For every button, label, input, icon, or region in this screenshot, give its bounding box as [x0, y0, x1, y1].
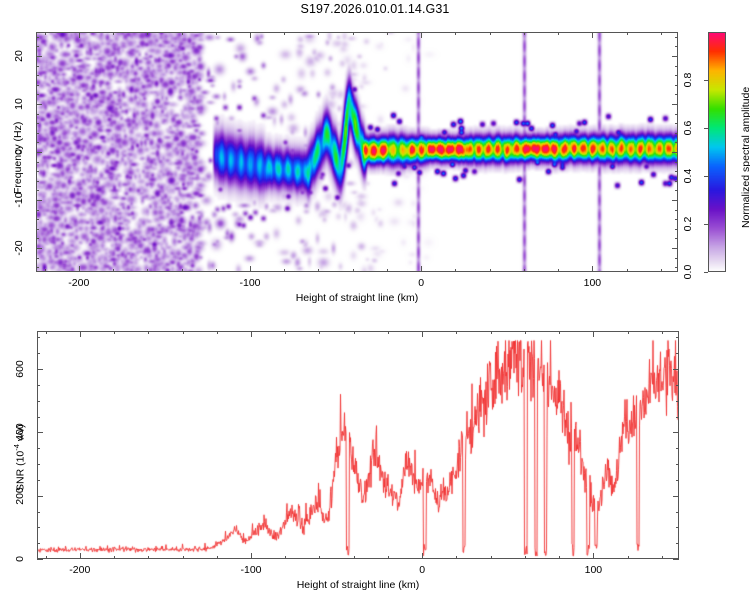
snr-ytick-minor [37, 464, 40, 465]
snr-xtick-minor-top [559, 331, 560, 334]
snr-ytick-minor-right [676, 448, 679, 449]
snr-ytick-right [673, 496, 679, 497]
snr-xtick-top [80, 331, 81, 337]
colorbar-tick [704, 272, 708, 273]
spectrogram-xtick-minor [524, 269, 525, 272]
colorbar-ticklabel: 0.8 [681, 66, 695, 94]
spectrogram-xtick [592, 266, 593, 272]
spectrogram-ytick-minor-right [675, 37, 678, 38]
spectrogram-yticklabel: 20 [12, 43, 26, 69]
spectrogram-xtick-minor-top [455, 32, 456, 35]
spectrogram-xtick-minor [147, 269, 148, 272]
colorbar-ticklabel: 0.4 [681, 162, 695, 190]
spectrogram-ytick-minor-right [675, 75, 678, 76]
snr-xtick-minor-top [491, 331, 492, 334]
spectrogram-xtick-minor-top [45, 32, 46, 35]
snr-xtick-minor-top [217, 331, 218, 334]
snr-xticklabel: -200 [62, 564, 98, 576]
spectrogram-xtick-minor-top [182, 32, 183, 35]
spectrogram-ytick-minor-right [675, 267, 678, 268]
snr-ytick-minor-right [676, 337, 679, 338]
snr-ytick-minor-right [676, 401, 679, 402]
spectrogram-ytick-minor-right [675, 210, 678, 211]
colorbar-tick [704, 80, 708, 81]
spectrogram-ytick-right [672, 248, 678, 249]
spectrogram-ytick [36, 200, 42, 201]
snr-xticklabel: -100 [233, 564, 269, 576]
spectrogram-ytick-minor-right [675, 229, 678, 230]
snr-xaxis-label: Height of straight line (km) [37, 579, 679, 591]
spectrogram-ytick-minor [36, 171, 39, 172]
spectrogram-ytick-minor-right [675, 66, 678, 67]
colorbar-ticklabel: 0.0 [681, 258, 695, 286]
spectrogram-xtick-minor [455, 269, 456, 272]
spectrogram-xtick-top [79, 32, 80, 38]
snr-xtick-minor [491, 556, 492, 559]
spectrogram-ytick-right [672, 200, 678, 201]
snr-xtick-top [422, 331, 423, 337]
spectrogram-ytick-minor-right [675, 123, 678, 124]
snr-xtick-minor-top [148, 331, 149, 334]
snr-xtick-top [593, 331, 594, 337]
spectrogram-ytick-minor-right [675, 46, 678, 47]
snr-ytick-minor-right [676, 480, 679, 481]
spectrogram-panel [36, 32, 678, 272]
snr-ytick-minor-right [676, 385, 679, 386]
snr-frame [37, 331, 679, 559]
spectrogram-ytick-minor-right [675, 171, 678, 172]
spectrogram-xtick-minor [284, 269, 285, 272]
spectrogram-ytick-minor-right [675, 162, 678, 163]
spectrogram-xtick [250, 266, 251, 272]
spectrogram-ytick-minor-right [675, 94, 678, 95]
spectrogram-ytick-minor [36, 190, 39, 191]
spectrogram-ytick-minor [36, 229, 39, 230]
spectrogram-xtick-minor-top [147, 32, 148, 35]
spectrogram-ytick-minor [36, 181, 39, 182]
spectrogram-yticklabel: -20 [12, 235, 26, 261]
spectrogram-xtick-top [592, 32, 593, 38]
spectrogram-ytick-minor-right [675, 85, 678, 86]
snr-xtick-minor-top [388, 331, 389, 334]
spectrogram-xtick-minor-top [318, 32, 319, 35]
spectrogram-ytick-minor [36, 37, 39, 38]
spectrogram-xticklabel: -200 [61, 277, 97, 289]
spectrogram-xtick-minor [627, 269, 628, 272]
snr-xtick-minor [388, 556, 389, 559]
snr-xtick-minor [559, 556, 560, 559]
snr-xtick-minor [354, 556, 355, 559]
snr-xtick-minor [628, 556, 629, 559]
snr-xtick-minor [662, 556, 663, 559]
figure-root: S197.2026.010.01.14.G31 -200-1000100-20-… [0, 0, 750, 600]
spectrogram-ytick-minor [36, 114, 39, 115]
spectrogram-xtick-minor-top [216, 32, 217, 35]
snr-ytick-minor-right [676, 464, 679, 465]
snr-ytick-minor-right [676, 512, 679, 513]
snr-ytick-minor [37, 337, 40, 338]
spectrogram-xtick-minor-top [113, 32, 114, 35]
spectrogram-ytick-minor [36, 162, 39, 163]
snr-ytick-minor [37, 448, 40, 449]
spectrogram-xtick-minor-top [627, 32, 628, 35]
spectrogram-ytick-right [672, 152, 678, 153]
spectrogram-ytick-minor [36, 238, 39, 239]
snr-xtick-minor [285, 556, 286, 559]
colorbar-tick [704, 176, 708, 177]
spectrogram-xtick-minor [490, 269, 491, 272]
snr-ytick-minor [37, 417, 40, 418]
snr-xtick [593, 553, 594, 559]
spectrogram-ytick [36, 56, 42, 57]
snr-ytick-right [673, 432, 679, 433]
spectrogram-ytick-minor-right [675, 190, 678, 191]
spectrogram-xtick-minor-top [490, 32, 491, 35]
snr-ytick-minor [37, 512, 40, 513]
spectrogram-xtick-minor [661, 269, 662, 272]
snr-ytick-minor [37, 385, 40, 386]
snr-ytick-minor-right [676, 543, 679, 544]
snr-xticklabel: 100 [575, 564, 611, 576]
spectrogram-xtick-minor [558, 269, 559, 272]
snr-xtick-minor [148, 556, 149, 559]
spectrogram-xtick-minor-top [661, 32, 662, 35]
spectrogram-xticklabel: -100 [232, 277, 268, 289]
colorbar-tick [704, 128, 708, 129]
colorbar-ticklabel: 0.2 [681, 210, 695, 238]
colorbar-ticklabel: 0.6 [681, 114, 695, 142]
figure-title: S197.2026.010.01.14.G31 [0, 2, 750, 16]
snr-xtick [422, 553, 423, 559]
spectrogram-ytick-right [672, 104, 678, 105]
spectrogram-ytick-minor-right [675, 181, 678, 182]
spectrogram-ytick [36, 248, 42, 249]
snr-ytick [37, 369, 43, 370]
spectrogram-xtick-minor-top [558, 32, 559, 35]
snr-xtick-minor-top [46, 331, 47, 334]
spectrogram-ytick-minor-right [675, 258, 678, 259]
spectrogram-xtick-minor [216, 269, 217, 272]
snr-ytick [37, 432, 43, 433]
snr-ytick-minor [37, 543, 40, 544]
snr-xtick-minor-top [525, 331, 526, 334]
snr-ytick-minor-right [676, 417, 679, 418]
spectrogram-xtick-top [421, 32, 422, 38]
colorbar-frame [708, 32, 726, 272]
snr-xtick [251, 553, 252, 559]
snr-xtick [80, 553, 81, 559]
spectrogram-ytick [36, 152, 42, 153]
spectrogram-ytick-minor [36, 219, 39, 220]
spectrogram-xtick-minor-top [387, 32, 388, 35]
spectrogram-ytick [36, 104, 42, 105]
spectrogram-ytick-minor-right [675, 219, 678, 220]
spectrogram-ytick-minor [36, 46, 39, 47]
snr-ytick [37, 559, 43, 560]
spectrogram-ytick-minor-right [675, 114, 678, 115]
snr-xtick-minor-top [628, 331, 629, 334]
spectrogram-xaxis-label: Height of straight line (km) [36, 292, 678, 304]
spectrogram-xtick [79, 266, 80, 272]
spectrogram-xtick-top [250, 32, 251, 38]
spectrogram-ytick-minor [36, 123, 39, 124]
snr-xtick-minor [183, 556, 184, 559]
colorbar-panel [708, 32, 726, 272]
snr-yaxis-label: SNR (10-4 v/v) [12, 424, 27, 491]
snr-xtick-minor-top [319, 331, 320, 334]
snr-panel [37, 331, 679, 559]
spectrogram-ytick-minor [36, 75, 39, 76]
snr-xticklabel: 0 [404, 564, 440, 576]
colorbar-tick [704, 224, 708, 225]
spectrogram-xtick-minor [182, 269, 183, 272]
spectrogram-ytick-minor [36, 267, 39, 268]
snr-ytick-minor [37, 480, 40, 481]
snr-yticklabel: 0 [13, 546, 27, 572]
spectrogram-yaxis-label: Frequency (Hz) [12, 122, 24, 194]
snr-xtick-minor [217, 556, 218, 559]
spectrogram-xtick-minor [387, 269, 388, 272]
spectrogram-xtick [421, 266, 422, 272]
spectrogram-xticklabel: 100 [574, 277, 610, 289]
snr-xtick-minor-top [114, 331, 115, 334]
snr-xtick-minor [456, 556, 457, 559]
spectrogram-yticklabel: 10 [12, 91, 26, 117]
snr-xtick-minor [114, 556, 115, 559]
snr-xtick-minor-top [285, 331, 286, 334]
snr-yticklabel: 600 [13, 356, 27, 382]
snr-xtick-minor-top [456, 331, 457, 334]
snr-xtick-minor [319, 556, 320, 559]
spectrogram-ytick-right [672, 56, 678, 57]
colorbar-label: Normalized spectral amplitude [740, 87, 750, 228]
spectrogram-xticklabel: 0 [403, 277, 439, 289]
snr-ytick-right [673, 559, 679, 560]
snr-ytick-right [673, 369, 679, 370]
snr-xtick-top [251, 331, 252, 337]
spectrogram-xtick-minor [45, 269, 46, 272]
snr-ytick-minor-right [676, 527, 679, 528]
spectrogram-xtick-minor [318, 269, 319, 272]
snr-ytick-minor-right [676, 353, 679, 354]
spectrogram-ytick-minor [36, 258, 39, 259]
snr-xtick-minor [525, 556, 526, 559]
snr-ytick [37, 496, 43, 497]
snr-xtick-minor-top [183, 331, 184, 334]
spectrogram-ytick-minor [36, 66, 39, 67]
snr-ytick-minor [37, 527, 40, 528]
snr-xtick-minor [46, 556, 47, 559]
spectrogram-ytick-minor-right [675, 133, 678, 134]
spectrogram-ytick-minor [36, 85, 39, 86]
spectrogram-ytick-minor [36, 210, 39, 211]
spectrogram-frame [36, 32, 678, 272]
spectrogram-ytick-minor [36, 142, 39, 143]
spectrogram-ytick-minor [36, 133, 39, 134]
spectrogram-ytick-minor-right [675, 142, 678, 143]
spectrogram-xtick-minor [353, 269, 354, 272]
spectrogram-xtick-minor-top [353, 32, 354, 35]
spectrogram-ytick-minor-right [675, 238, 678, 239]
spectrogram-xtick-minor-top [524, 32, 525, 35]
snr-xtick-minor-top [662, 331, 663, 334]
spectrogram-ytick-minor [36, 94, 39, 95]
snr-xtick-minor-top [354, 331, 355, 334]
spectrogram-xtick-minor [113, 269, 114, 272]
snr-ytick-minor [37, 353, 40, 354]
snr-ytick-minor [37, 401, 40, 402]
spectrogram-xtick-minor-top [284, 32, 285, 35]
